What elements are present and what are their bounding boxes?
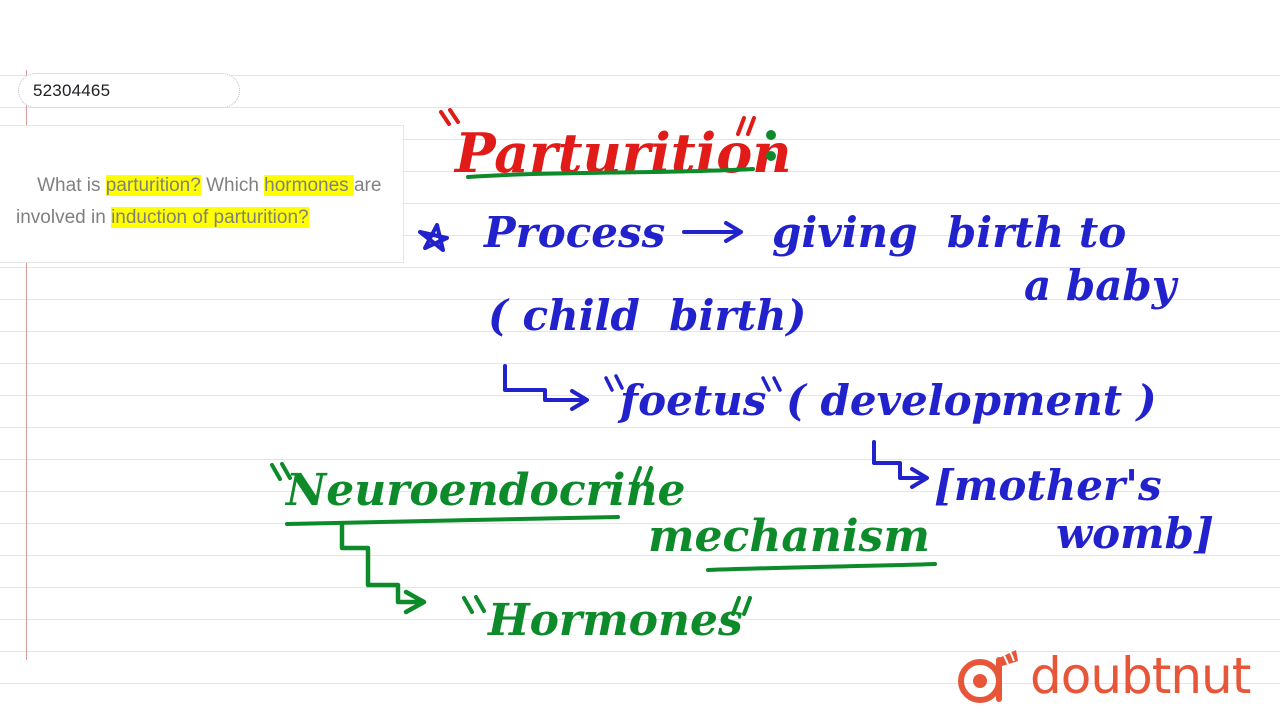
question-segment: What is	[37, 175, 106, 196]
rule-line	[0, 331, 1280, 332]
rule-line	[0, 427, 1280, 428]
question-segment: Which	[201, 175, 264, 196]
rule-line	[0, 459, 1280, 460]
question-id-chip[interactable]: 52304465	[18, 73, 240, 108]
rule-line	[0, 555, 1280, 556]
doubtnut-wordmark: doubtnut	[1030, 651, 1250, 701]
rule-line	[0, 523, 1280, 524]
question-highlight: hormones	[264, 175, 354, 196]
doubtnut-mark-icon	[958, 647, 1020, 705]
rule-line	[0, 395, 1280, 396]
rule-line	[0, 587, 1280, 588]
notebook-paper	[0, 0, 1280, 720]
rule-line	[0, 619, 1280, 620]
question-highlight: induction of parturition?	[111, 207, 309, 228]
rule-line	[0, 299, 1280, 300]
rule-line	[0, 491, 1280, 492]
question-highlight: parturition?	[106, 175, 201, 196]
question-id-value: 52304465	[33, 81, 110, 101]
question-card: What is parturition? Which hormones are …	[0, 125, 404, 263]
question-text: What is parturition? Which hormones are …	[16, 138, 387, 266]
rule-line	[0, 363, 1280, 364]
doubtnut-logo: doubtnut	[958, 645, 1258, 707]
rule-line	[0, 267, 1280, 268]
